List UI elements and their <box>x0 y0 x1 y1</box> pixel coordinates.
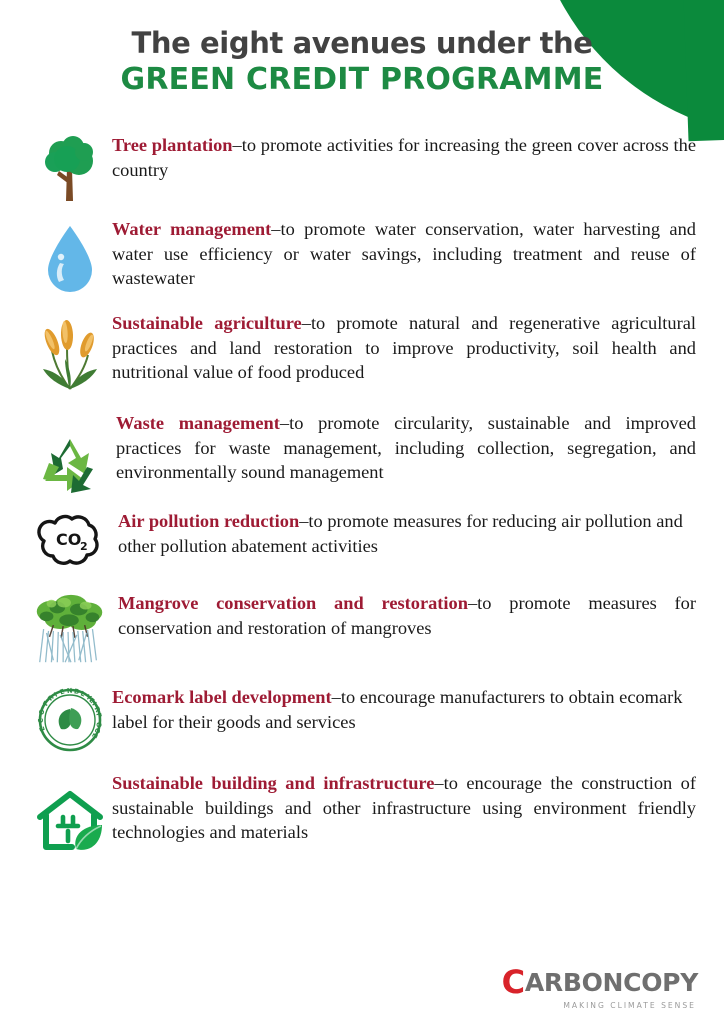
eco-friendly-stamp-icon: E C O F R I E N D L Y E C O F R I <box>28 685 112 753</box>
avenue-item-air-pollution-reduction: CO 2 Air pollution reduction–to promote … <box>0 509 724 571</box>
avenue-dash: – <box>434 773 443 793</box>
avenue-term: Mangrove conservation and restoration <box>118 593 468 613</box>
svg-text:N: N <box>67 687 74 695</box>
carboncopy-logo: CARBONCOPY MAKING CLIMATE SENSE <box>502 966 698 1010</box>
avenue-text: Water management–to promote water conser… <box>112 217 698 291</box>
avenue-item-waste-management: Waste management–to promote circularity,… <box>0 411 724 499</box>
avenue-list: Tree plantation–to promote activities fo… <box>0 133 724 857</box>
wheat-icon <box>28 311 112 393</box>
avenue-text: Sustainable agriculture–to promote natur… <box>112 311 698 385</box>
svg-text:O: O <box>38 708 47 716</box>
avenue-text: Mangrove conservation and restoration–to… <box>112 591 698 640</box>
logo-tagline: MAKING CLIMATE SENSE <box>502 1001 696 1010</box>
avenue-term: Sustainable building and infrastructure <box>112 773 434 793</box>
avenue-item-sustainable-agriculture: Sustainable agriculture–to promote natur… <box>0 311 724 393</box>
page-header: The eight avenues under the GREEN CREDIT… <box>0 26 724 98</box>
recycle-icon <box>28 411 112 499</box>
avenue-text: Air pollution reduction–to promote measu… <box>112 509 698 558</box>
avenue-text: Ecomark label development–to encourage m… <box>112 685 698 734</box>
logo-wordmark: CARBONCOPY <box>502 966 698 998</box>
mangrove-icon <box>28 591 112 667</box>
avenue-item-sustainable-building: Sustainable building and infrastructure–… <box>0 771 724 857</box>
avenue-term: Tree plantation <box>112 135 233 155</box>
logo-wordmark-rest: ARBONCOPY <box>525 968 698 997</box>
avenue-item-tree-plantation: Tree plantation–to promote activities fo… <box>0 133 724 203</box>
avenue-dash: – <box>332 687 341 707</box>
avenue-dash: – <box>468 593 477 613</box>
page-title-line-1: The eight avenues under the <box>0 26 724 60</box>
page-title-line-2: GREEN CREDIT PROGRAMME <box>0 62 724 98</box>
svg-text:2: 2 <box>80 540 88 553</box>
avenue-term: Water management <box>112 219 271 239</box>
avenue-text: Sustainable building and infrastructure–… <box>112 771 698 845</box>
avenue-item-ecomark-label-development: E C O F R I E N D L Y E C O F R I <box>0 685 724 753</box>
logo-initial-c: C <box>502 963 525 1001</box>
avenue-dash: – <box>302 313 311 333</box>
avenue-item-mangrove-conservation: Mangrove conservation and restoration–to… <box>0 591 724 667</box>
avenue-item-water-management: Water management–to promote water conser… <box>0 217 724 299</box>
avenue-dash: – <box>233 135 242 155</box>
avenue-dash: – <box>280 413 289 433</box>
water-drop-icon <box>28 217 112 299</box>
green-house-plug-leaf-icon <box>28 771 112 857</box>
svg-text:E: E <box>59 687 67 696</box>
co2-cloud-icon: CO 2 <box>28 509 112 571</box>
avenue-term: Air pollution reduction <box>118 511 299 531</box>
avenue-term: Sustainable agriculture <box>112 313 302 333</box>
avenue-term: Waste management <box>116 413 280 433</box>
avenue-text: Tree plantation–to promote activities fo… <box>112 133 698 182</box>
svg-text:CO: CO <box>56 530 81 549</box>
avenue-term: Ecomark label development <box>112 687 332 707</box>
tree-icon <box>28 133 112 203</box>
svg-text:C: C <box>37 717 45 723</box>
svg-text:O: O <box>95 722 103 729</box>
avenue-text: Waste management–to promote circularity,… <box>112 411 698 485</box>
